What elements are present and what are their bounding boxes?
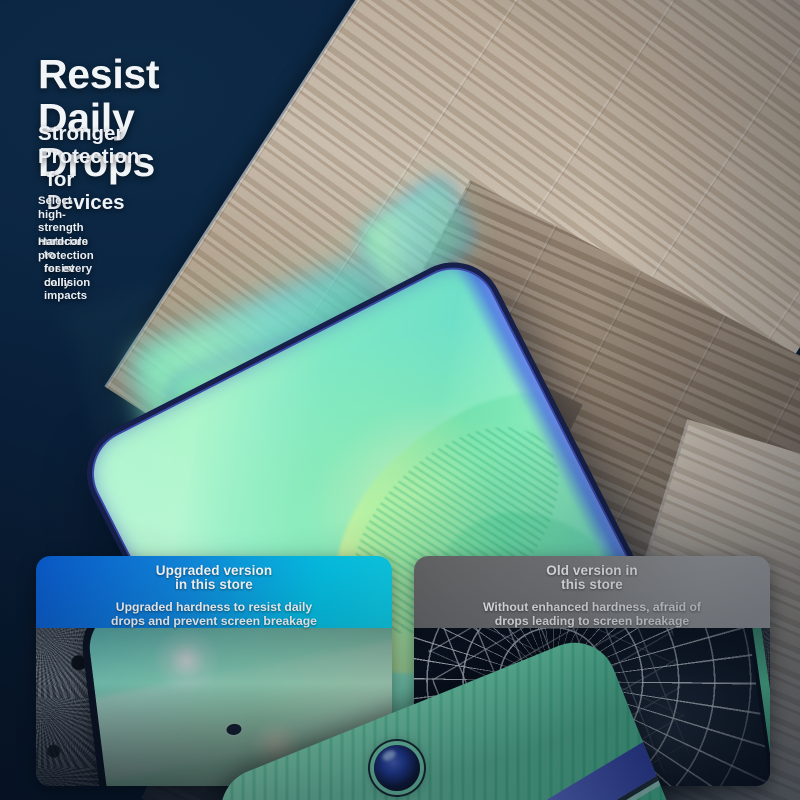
card-desc-line1: Without enhanced hardness, afraid of	[483, 600, 701, 614]
feature-bullet-2: Hardcore protection for every collision	[38, 236, 94, 290]
bullet1-line1: Select high-strength materials	[38, 195, 88, 249]
camera-lens-icon	[374, 745, 420, 791]
card-description-old: Without enhanced hardness, afraid of dro…	[483, 600, 701, 628]
bullet2-line2: for every collision	[38, 263, 94, 290]
card-title-line1: Old version in	[546, 564, 637, 578]
card-desc-line2: drops leading to screen breakage	[483, 614, 701, 628]
card-desc-line1: Upgraded hardness to resist daily	[111, 600, 317, 614]
card-description-upgraded: Upgraded hardness to resist daily drops …	[111, 600, 317, 628]
card-title-line2: this store	[546, 578, 637, 592]
bullet1-line2: to resist daily impacts	[38, 249, 88, 303]
card-title-old: Old version in this store	[546, 564, 637, 591]
card-header-upgraded: Upgraded version in this store Upgraded …	[36, 556, 392, 628]
card-title-upgraded: Upgraded version in this store	[156, 564, 272, 591]
page-title: Resist Daily Drops	[38, 52, 159, 184]
subtitle: Stronger Protection for Devices	[38, 122, 139, 214]
card-desc-line2: drops and prevent screen breakage	[111, 614, 317, 628]
subtitle-line2: for Devices	[38, 168, 139, 214]
subtitle-line1: Stronger Protection	[38, 122, 139, 168]
product-ad-banner: Upgraded version in this store Upgraded …	[0, 0, 800, 800]
bullet2-line1: Hardcore protection	[38, 236, 94, 263]
card-title-line1: Upgraded version	[156, 564, 272, 578]
feature-bullet-1: Select high-strength materials to resist…	[38, 195, 88, 304]
card-header-old: Old version in this store Without enhanc…	[414, 556, 770, 628]
card-title-line2: in this store	[156, 578, 272, 592]
